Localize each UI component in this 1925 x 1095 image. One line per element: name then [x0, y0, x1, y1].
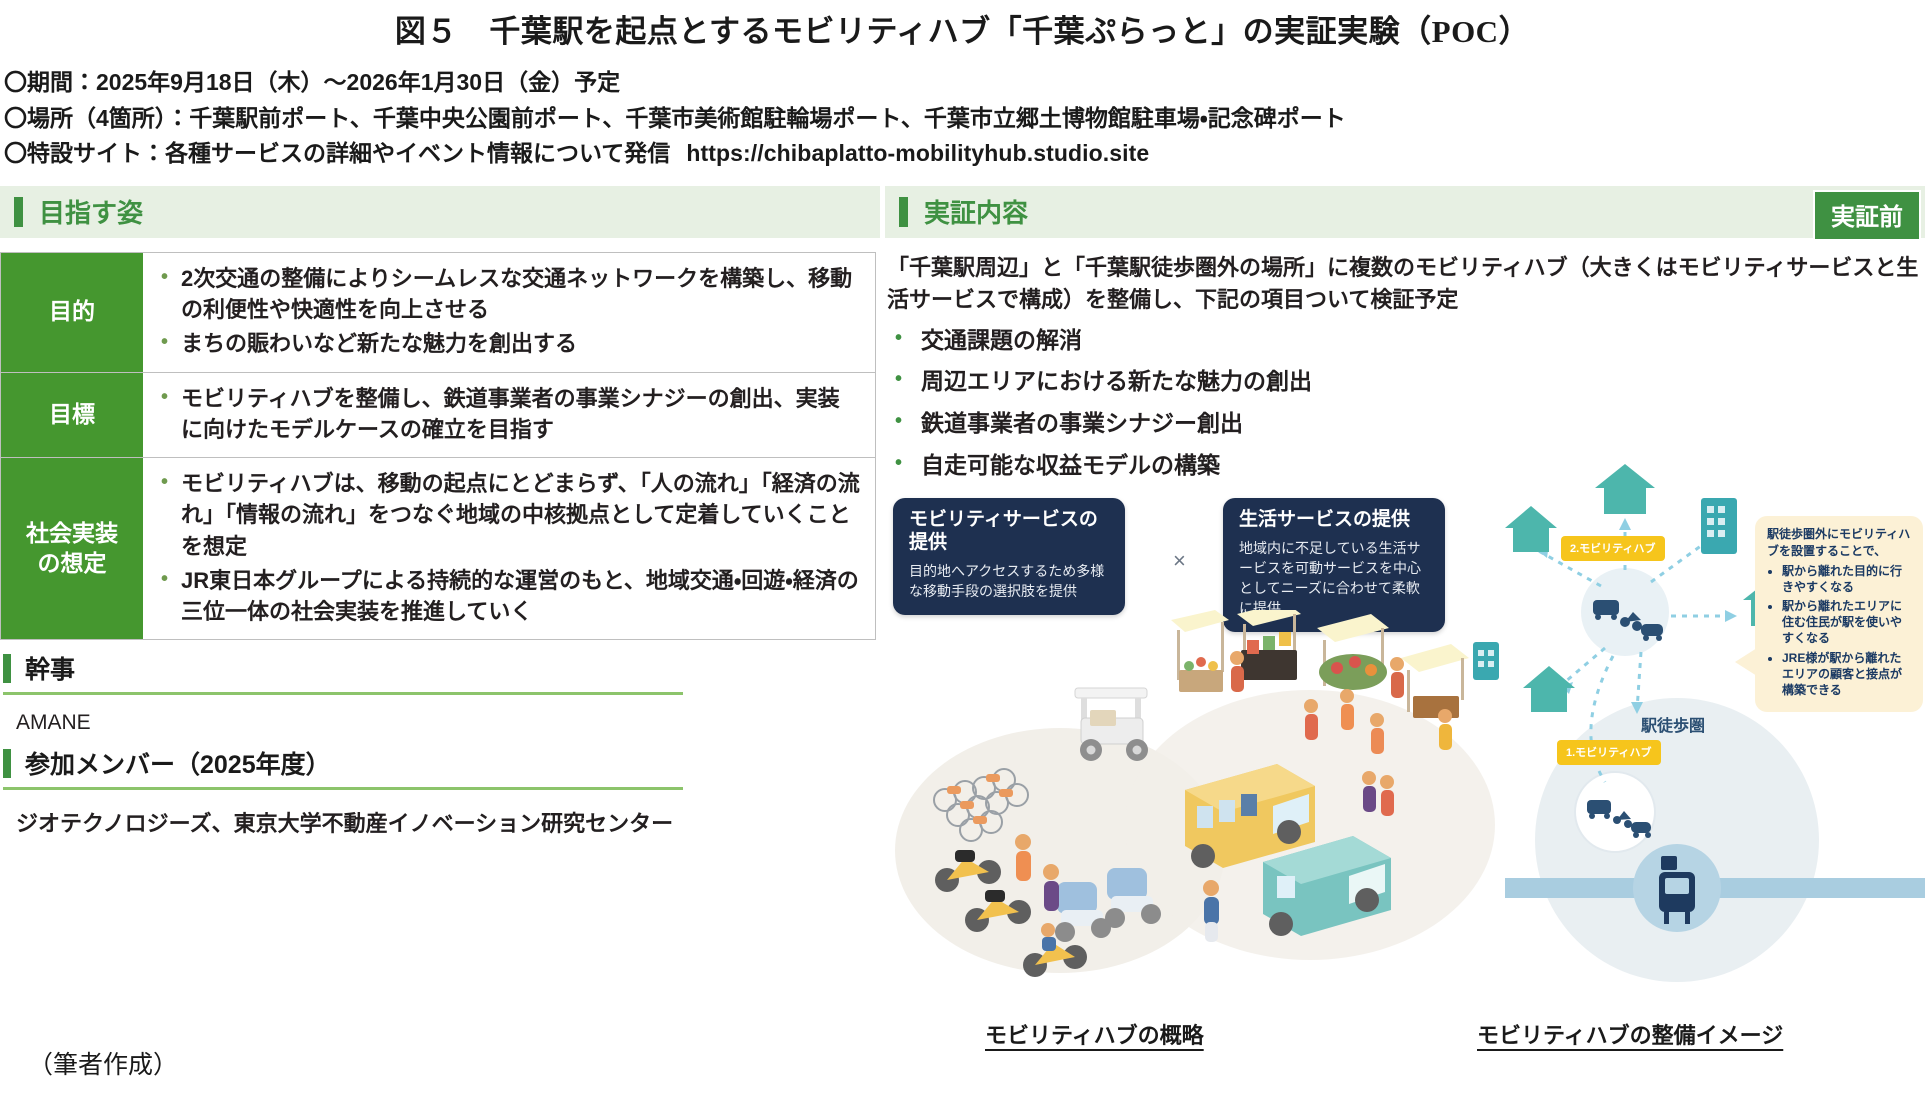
members-value: ジオテクノロジーズ、東京大学不動産イノベーション研究センター [16, 806, 880, 838]
meta-site-url[interactable]: https://chibaplatto-mobilityhub.studio.s… [686, 140, 1149, 166]
list-item: 駅から離れた目的に行きやすくなる [1782, 563, 1911, 595]
left-panel: 目指す姿 目的 • 2次交通の整備によりシームレスな交通ネットワークを構築し、移… [0, 186, 880, 838]
mobility-service-box: モビリティサービスの提供 目的地へアクセスするため多様な移動手段の選択肢を提供 [893, 498, 1125, 614]
members-heading-row: 参加メンバー（2025年度） [0, 745, 880, 781]
mobility-service-title: モビリティサービスの提供 [909, 509, 1109, 555]
house-icon [1595, 464, 1655, 514]
golf-cart-icon [1075, 688, 1148, 761]
list-item-text: モビリティハブは、移動の起点にとどまらず、「人の流れ」「経済の流れ」「情報の流れ… [181, 468, 861, 562]
list-item-text: 鉄道事業者の事業シナジー創出 [921, 407, 1243, 440]
inner-hub-circle [1575, 772, 1655, 852]
bullet-dot-icon: • [895, 449, 921, 482]
bus-icon [1185, 764, 1315, 868]
pedestrian-icon [1390, 657, 1404, 698]
organizer-value: AMANE [16, 711, 880, 735]
accent-bar-icon [14, 197, 23, 227]
list-item: • 交通課題の解消 [895, 324, 1925, 357]
building-icon [1701, 498, 1737, 554]
bullet-dot-icon: • [895, 365, 921, 398]
mobility-hub-illustration [885, 610, 1505, 990]
pedestrian-icon [1370, 713, 1384, 754]
source-note: （筆者作成） [28, 1045, 178, 1081]
row-label-line2: の想定 [38, 550, 107, 576]
hub-badge-outer: 2.モビリティハブ [1561, 536, 1665, 561]
members-section: 参加メンバー（2025年度） ジオテクノロジーズ、東京大学不動産イノベーション研… [0, 745, 880, 838]
left-panel-title: 目指す姿 [39, 193, 143, 230]
list-item-text: モビリティハブを整備し、鉄道事業者の事業シナジーの創出、実装に向けたモデルケース… [181, 383, 861, 445]
diagram-area: モビリティサービスの提供 目的地へアクセスするため多様な移動手段の選択肢を提供 … [885, 490, 1925, 1010]
callout-list: 駅から離れた目的に行きやすくなる 駅から離れたエリアに住む住民が駅を使いやすくな… [1767, 563, 1911, 699]
divider [3, 787, 683, 790]
caption-mobility-hub-overview: モビリティハブの概略 [985, 1018, 1204, 1050]
accent-bar-icon [3, 654, 11, 683]
right-panel-title: 実証内容 [924, 193, 1028, 230]
right-panel-intro: 「千葉駅周辺」と「千葉駅徒歩圏外の場所」に複数のモビリティハブ（大きくはモビリテ… [887, 252, 1923, 316]
pedestrian-icon [1380, 775, 1394, 816]
organizer-heading: 幹事 [25, 650, 75, 686]
row-label-social-impl: 社会実装 の想定 [1, 458, 143, 639]
list-item-text: 自走可能な収益モデルの構築 [921, 449, 1220, 482]
row-label-purpose: 目的 [1, 253, 143, 372]
row-label-line1: 社会実装 [26, 520, 118, 546]
bullet-dot-icon: • [895, 324, 921, 357]
hub-badge-inner: 1.モビリティハブ [1557, 740, 1661, 765]
list-item-text: まちの賑わいなど新たな魅力を創出する [181, 328, 577, 359]
pedestrian-icon [1362, 771, 1376, 812]
list-item: • モビリティハブは、移動の起点にとどまらず、「人の流れ」「経済の流れ」「情報の… [161, 468, 861, 562]
goals-table: 目的 • 2次交通の整備によりシームレスな交通ネットワークを構築し、移動の利便性… [0, 252, 876, 640]
list-item: • 2次交通の整備によりシームレスな交通ネットワークを構築し、移動の利便性や快適… [161, 263, 861, 325]
accent-bar-icon [899, 197, 908, 227]
pedestrian-icon [1340, 689, 1354, 730]
meta-period: 〇期間：2025年9月18日（木）〜2026年1月30日（金）予定 [4, 65, 1925, 101]
row-body-social-impl: • モビリティハブは、移動の起点にとどまらず、「人の流れ」「経済の流れ」「情報の… [143, 458, 875, 639]
scooter-rider-icon [1023, 923, 1087, 977]
list-item-text: 周辺エリアにおける新たな魅力の創出 [921, 365, 1312, 398]
page-title: 図５ 千葉駅を起点とするモビリティハブ「千葉ぷらっと」の実証実験（POC） [0, 0, 1925, 51]
pedestrian-icon [1438, 709, 1452, 750]
row-label-target: 目標 [1, 373, 143, 457]
list-item-text: 2次交通の整備によりシームレスな交通ネットワークを構築し、移動の利便性や快適性を… [181, 263, 861, 325]
pedestrian-icon [1304, 699, 1318, 740]
row-body-purpose: • 2次交通の整備によりシームレスな交通ネットワークを構築し、移動の利便性や快適… [143, 253, 875, 372]
house-icon [1505, 506, 1557, 552]
meta-site-row: 〇特設サイト：各種サービスの詳細やイベント情報について発信https://chi… [4, 136, 1925, 172]
market-canopy-icon [1317, 614, 1389, 690]
scooter-icon [935, 850, 1001, 892]
mobility-service-desc: 目的地へアクセスするため多様な移動手段の選択肢を提供 [909, 562, 1109, 602]
meta-site-label: 〇特設サイト：各種サービスの詳細やイベント情報について発信 [4, 140, 670, 166]
scooter-icon [965, 890, 1031, 932]
mobility-scooter-icon [1055, 882, 1111, 942]
benefits-callout: 駅徒歩圏外にモビリティハブを設置することで、 駅から離れた目的に行きやすくなる … [1755, 516, 1923, 712]
bullet-dot-icon: • [161, 328, 181, 359]
table-row: 目標 • モビリティハブを整備し、鉄道事業者の事業シナジーの創出、実装に向けたモ… [1, 373, 875, 458]
bullet-dot-icon: • [161, 383, 181, 445]
table-row: 社会実装 の想定 • モビリティハブは、移動の起点にとどまらず、「人の流れ」「経… [1, 458, 875, 640]
life-service-desc: 地域内に不足している生活サービスを可動サービスを中心としてニーズに合わせて柔軟に… [1239, 539, 1429, 619]
pedestrian-icon [1043, 864, 1059, 911]
pedestrian-icon [1230, 651, 1244, 692]
bullet-dot-icon: • [161, 468, 181, 562]
right-panel: 実証内容 実証前 「千葉駅周辺」と「千葉駅徒歩圏外の場所」に複数のモビリティハブ… [885, 186, 1925, 1010]
pedestrian-icon [1203, 880, 1219, 942]
market-stall-icon [1237, 610, 1301, 680]
callout-heading: 駅徒歩圏外にモビリティハブを設置することで、 [1767, 526, 1911, 558]
hub-deployment-map: 2.モビリティハブ 1.モビリティハブ 駅徒歩圏 駅徒歩圏外にモビリティハブを設… [1465, 410, 1925, 1010]
row-body-target: • モビリティハブを整備し、鉄道事業者の事業シナジーの創出、実装に向けたモデルケ… [143, 373, 875, 457]
list-item: JRE様が駅から離れたエリアの顧客と接点が構築できる [1782, 650, 1911, 699]
table-row: 目的 • 2次交通の整備によりシームレスな交通ネットワークを構築し、移動の利便性… [1, 253, 875, 373]
bullet-dot-icon: • [161, 565, 181, 627]
divider [3, 692, 683, 695]
status-badge: 実証前 [1813, 190, 1921, 241]
bullet-dot-icon: • [895, 407, 921, 440]
list-item-text: 交通課題の解消 [921, 324, 1082, 357]
bicycle-rack-icon [934, 769, 1028, 841]
organizer-heading-row: 幹事 [0, 650, 880, 686]
callout-tail-icon [1735, 648, 1757, 676]
list-item: • JR東日本グループによる持続的な運営のもと、地域交通・回遊・経済の三位一体の… [161, 565, 861, 627]
list-item: • 周辺エリアにおける新たな魅力の創出 [895, 365, 1925, 398]
members-heading: 参加メンバー（2025年度） [25, 745, 331, 781]
building-icon [1473, 642, 1499, 680]
left-panel-header: 目指す姿 [0, 186, 880, 238]
list-item: • まちの賑わいなど新たな魅力を創出する [161, 328, 861, 359]
mobility-scooter-icon [1105, 868, 1161, 928]
list-item: 駅から離れたエリアに住む住民が駅を使いやすくなる [1782, 598, 1911, 647]
multiply-icon: × [1173, 548, 1186, 574]
walk-zone-label: 駅徒歩圏 [1641, 712, 1705, 736]
market-canopy-icon [1401, 644, 1469, 718]
life-service-title: 生活サービスの提供 [1239, 509, 1429, 532]
list-item: • モビリティハブを整備し、鉄道事業者の事業シナジーの創出、実装に向けたモデルケ… [161, 383, 861, 445]
content-columns: 目指す姿 目的 • 2次交通の整備によりシームレスな交通ネットワークを構築し、移… [0, 186, 1925, 1010]
right-panel-header: 実証内容 実証前 [885, 186, 1925, 238]
list-item-text: JR東日本グループによる持続的な運営のもと、地域交通・回遊・経済の三位一体の社会… [181, 565, 861, 627]
scene-vectors [885, 610, 1505, 990]
caption-mobility-hub-deployment: モビリティハブの整備イメージ [1477, 1018, 1783, 1050]
organizer-section: 幹事 AMANE [0, 650, 880, 735]
pedestrian-icon [1015, 834, 1031, 881]
market-stall-icon [1171, 610, 1229, 692]
accent-bar-icon [3, 749, 11, 778]
meta-block: 〇期間：2025年9月18日（木）〜2026年1月30日（金）予定 〇場所（4箇… [4, 65, 1925, 172]
bullet-dot-icon: • [161, 263, 181, 325]
meta-places: 〇場所（4箇所）：千葉駅前ポート、千葉中央公園前ポート、千葉市美術館駐輪場ポート… [4, 101, 1925, 137]
